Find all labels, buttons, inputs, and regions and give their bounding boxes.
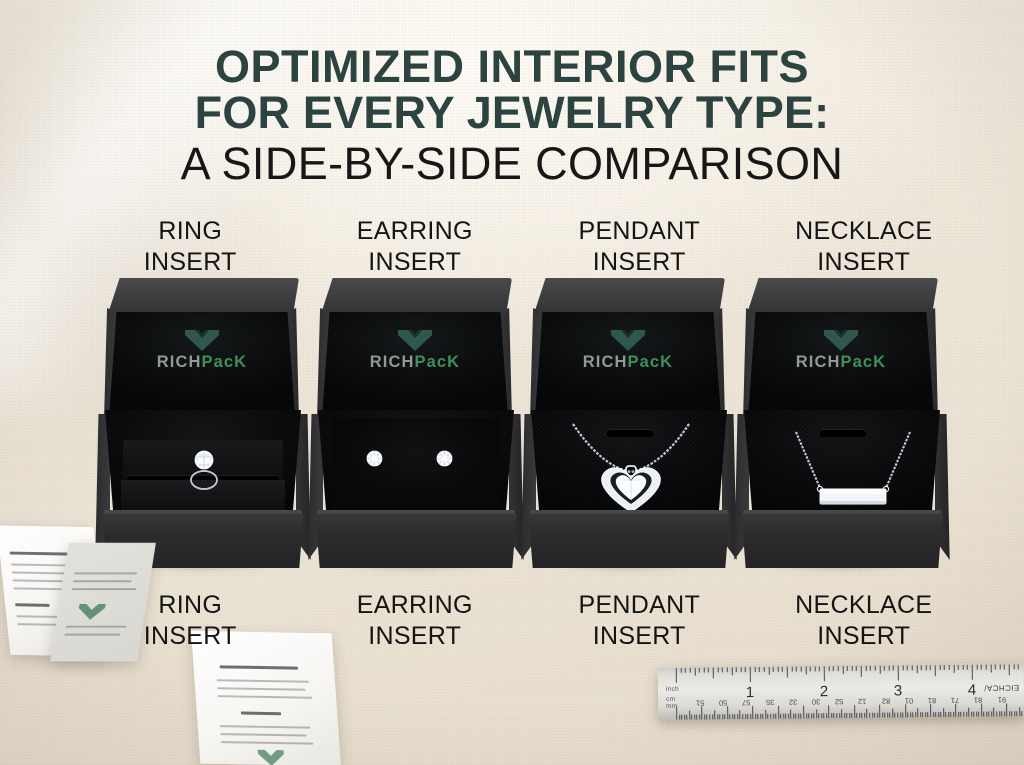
ruler-tick-metric — [940, 712, 941, 717]
ruler-tick-metric — [884, 713, 885, 718]
brochure-right-heading — [220, 665, 298, 669]
ruler-tick — [851, 666, 852, 671]
ruler-tick — [865, 666, 866, 671]
lid-top-slab — [317, 278, 512, 314]
ruler-tick-metric — [717, 714, 718, 719]
richpack-logo: RICHPacK — [533, 330, 723, 372]
product-photo-scene: OPTIMIZED INTERIOR FITS FOR EVERY JEWELR… — [0, 0, 1024, 765]
ruler-tick-metric — [854, 705, 855, 718]
ruler-tick — [879, 666, 880, 674]
ruler-inch-label: 3 — [894, 682, 903, 699]
ruler-tick — [773, 667, 774, 672]
lid-top-slab — [743, 278, 938, 314]
jewelry-box-pendant: RICHPacK — [520, 278, 738, 568]
ruler-tick — [777, 667, 778, 672]
ruler-tick-metric — [737, 714, 738, 719]
ruler-tick-metric — [813, 713, 814, 718]
ruler-tick-metric — [841, 709, 842, 718]
title-line-1: OPTIMIZED INTERIOR FITS — [0, 44, 1024, 90]
bottom-label-pendant-line1: PENDANT — [578, 591, 700, 619]
ruler-tick-metric — [846, 713, 847, 718]
ruler-tick-metric — [824, 713, 825, 718]
ruler-tick — [685, 668, 686, 673]
base-front-wall — [735, 514, 949, 568]
ruler-tick-metric — [770, 714, 771, 719]
ruler-tick-metric — [694, 715, 695, 720]
ruler-tick-metric — [978, 712, 979, 717]
logo-pack-part: PacK — [628, 353, 674, 371]
ruler-tick-metric — [910, 712, 911, 717]
ruler-metric-label: 91 — [997, 695, 1005, 704]
top-label-ring-line2: INSERT — [78, 247, 303, 278]
ruler-tick-metric — [798, 714, 799, 719]
ruler-tick — [745, 667, 746, 672]
ruler-tick-metric — [879, 705, 880, 718]
ruler-tick-metric — [676, 707, 677, 720]
brochure-richpack-logo-icon — [258, 750, 285, 765]
ruler-tick-metric — [757, 714, 758, 719]
ruler-tick-metric — [1001, 711, 1002, 716]
top-label-necklace: NECKLACE INSERT — [752, 216, 977, 277]
ruler-tick-metric — [826, 713, 827, 718]
ruler-tick-metric — [839, 713, 840, 718]
ruler-tick-metric — [806, 713, 807, 718]
top-label-earring-line2: INSERT — [303, 247, 528, 278]
ruler-tick — [805, 666, 806, 674]
logo-pack-part: PacK — [415, 353, 461, 371]
ruler-tick — [713, 667, 714, 678]
ruler-unit-inch: inch — [666, 686, 679, 693]
ruler-tick-metric — [755, 714, 756, 719]
diamond-gem-icon — [824, 330, 858, 351]
base-front-wall — [309, 514, 523, 568]
box-lid-earring: RICHPacK — [317, 278, 512, 418]
ruler-tick — [801, 666, 802, 671]
ruler-tick — [810, 666, 811, 671]
ruler-tick-metric — [719, 714, 720, 719]
ruler-tick-metric — [867, 709, 868, 718]
ruler-tick — [935, 665, 936, 676]
ruler-tick-metric — [788, 714, 789, 719]
ruler-tick-metric — [986, 712, 987, 717]
ruler-tick — [690, 668, 691, 673]
ruler-tick-metric — [780, 714, 781, 719]
top-label-ring-line1: RING — [158, 217, 222, 245]
ruler-tick-metric — [981, 704, 982, 717]
ruler-tick — [958, 665, 959, 670]
ruler-tick — [898, 665, 899, 680]
ruler-tick — [884, 666, 885, 671]
ruler-tick-metric — [745, 714, 746, 719]
brochure-richpack-logo-icon — [77, 604, 106, 620]
ruler-metric-label: 30 — [812, 697, 820, 706]
ruler-tick — [856, 666, 857, 671]
ruler-tick-metric — [994, 707, 995, 716]
ruler-tick — [731, 667, 732, 675]
ruler-tick — [833, 666, 834, 671]
ruler-tick-metric — [895, 713, 896, 718]
ruler-tick — [888, 666, 889, 671]
ruler-tick — [995, 664, 996, 669]
solitaire-ring-icon — [183, 446, 225, 490]
ruler-brand-text: EICHCA/ — [984, 683, 1019, 692]
ruler-tick-metric — [681, 715, 682, 720]
ruler-tick-metric — [973, 712, 974, 717]
ruler-tick — [893, 666, 894, 671]
top-label-necklace-line2: INSERT — [752, 247, 977, 278]
ruler-tick-metric — [961, 712, 962, 717]
ruler-tick — [791, 667, 792, 672]
ruler-tick — [1009, 664, 1010, 675]
ruler-tick — [902, 665, 903, 670]
ruler-tick — [981, 665, 982, 670]
ruler-tick-metric — [968, 708, 969, 717]
ruler-tick-metric — [928, 712, 929, 717]
ruler-tick-metric — [943, 708, 944, 717]
ruler-tick-metric — [679, 715, 680, 720]
ruler-tick-metric — [991, 712, 992, 717]
ruler-tick-metric — [836, 713, 837, 718]
bottom-label-necklace: NECKLACE INSERT — [752, 590, 977, 651]
ruler-tick — [986, 665, 987, 670]
ruler-metric-label: 81 — [928, 696, 936, 705]
brochure-left-fold — [50, 543, 156, 662]
ruler-tick — [949, 665, 950, 670]
ruler-tick-metric — [976, 712, 977, 717]
ruler-tick-metric — [793, 714, 794, 719]
ruler-tick-metric — [984, 712, 985, 717]
ruler-tick-metric — [935, 712, 936, 717]
ruler-tick — [727, 667, 728, 672]
ruler-tick-metric — [915, 712, 916, 717]
ruler-tick — [953, 665, 954, 673]
ruler-tick-metric — [1022, 711, 1023, 716]
top-label-ring: RING INSERT — [78, 216, 303, 277]
bottom-label-pendant-line2: INSERT — [527, 621, 752, 652]
ruler-tick-metric — [996, 711, 997, 716]
ruler-tick-metric — [1019, 707, 1020, 716]
ruler-tick-metric — [851, 713, 852, 718]
ruler-tick-metric — [686, 715, 687, 720]
ruler-tick — [722, 667, 723, 672]
richpack-logo-text: RICHPacK — [796, 353, 886, 371]
brochure-heading — [10, 552, 73, 556]
logo-pack-part: PacK — [841, 353, 887, 371]
page-title: OPTIMIZED INTERIOR FITS FOR EVERY JEWELR… — [0, 44, 1024, 187]
diamond-gem-icon — [185, 330, 219, 351]
top-label-earring: EARRING INSERT — [303, 216, 528, 277]
box-base-necklace — [733, 410, 951, 568]
ruler-tick-metric — [803, 705, 804, 718]
ruler-tick — [708, 667, 709, 672]
ruler-tick — [764, 667, 765, 672]
ruler-tick — [1018, 664, 1019, 669]
ruler-tick-metric — [907, 712, 908, 717]
ruler-tick — [847, 666, 848, 671]
ruler-tick-metric — [874, 713, 875, 718]
ruler-tick-metric — [1009, 711, 1010, 716]
ruler-tick-metric — [887, 713, 888, 718]
ruler-tick-metric — [938, 712, 939, 717]
ruler-tick-metric — [953, 712, 954, 717]
logo-rich-part: RICH — [796, 353, 841, 371]
ruler-tick — [999, 664, 1000, 669]
ruler-tick-metric — [765, 710, 766, 719]
ruler-tick-metric — [742, 714, 743, 719]
box-lid-ring: RICHPacK — [104, 278, 299, 418]
ruler-tick — [1004, 664, 1005, 669]
ruler-metric-label: 50 — [719, 698, 727, 707]
ruler-tick — [754, 667, 755, 672]
ruler-tick-metric — [966, 712, 967, 717]
ruler-tick — [736, 667, 737, 672]
base-front-wall — [522, 514, 736, 568]
bottom-label-necklace-line2: INSERT — [752, 621, 977, 652]
ruler-tick-metric — [999, 711, 1000, 716]
ruler-tick-metric — [732, 714, 733, 719]
ruler-tick-metric — [714, 710, 715, 719]
ruler-tick-metric — [920, 712, 921, 717]
ruler-metric-label: 12 — [858, 697, 866, 706]
ruler-tick-metric — [834, 713, 835, 718]
box-base-pendant — [520, 410, 738, 568]
bottom-label-pendant: PENDANT INSERT — [527, 590, 752, 651]
ruler-tick-metric — [930, 704, 931, 717]
ruler-tick — [875, 666, 876, 671]
ruler-tick — [842, 666, 843, 674]
ruler-tick-metric — [917, 708, 918, 717]
title-line-2: FOR EVERY JEWELRY TYPE: — [0, 90, 1024, 136]
ruler-tick-metric — [1004, 711, 1005, 716]
ruler-tick — [838, 666, 839, 671]
lid-inner-panel: RICHPacK — [746, 312, 936, 418]
ruler-tick — [759, 667, 760, 672]
ruler: inch cm mm EICHCA/ 123451505735323052128… — [658, 664, 1024, 720]
ruler-tick — [750, 667, 751, 682]
ruler-tick-metric — [735, 714, 736, 719]
ruler-tick-metric — [684, 715, 685, 720]
ruler-tick-metric — [912, 712, 913, 717]
lid-inner-panel: RICHPacK — [107, 312, 297, 418]
ruler-tick-metric — [790, 710, 791, 719]
ruler-tick — [870, 666, 871, 671]
diamond-gem-icon — [611, 330, 645, 351]
ruler-tick-metric — [752, 706, 753, 719]
ruler-tick — [967, 665, 968, 670]
ruler-tick-metric — [740, 710, 741, 719]
ruler-tick — [990, 665, 991, 673]
brochure-right-panel — [191, 631, 341, 765]
ruler-tick — [824, 666, 825, 681]
ruler-tick-metric — [785, 714, 786, 719]
ruler-tick-metric — [778, 706, 779, 719]
ruler-tick-metric — [857, 713, 858, 718]
ruler-tick-metric — [821, 713, 822, 718]
ruler-tick — [694, 668, 695, 676]
richpack-logo-text: RICHPacK — [157, 353, 247, 371]
ruler-tick-metric — [890, 713, 891, 718]
ruler-tick-metric — [816, 709, 817, 718]
ruler-tick-metric — [882, 713, 883, 718]
ruler-tick — [916, 665, 917, 673]
ruler-tick-metric — [689, 711, 690, 720]
ruler-tick-metric — [702, 707, 703, 720]
ruler-tick-metric — [859, 713, 860, 718]
ruler-tick — [717, 667, 718, 672]
lid-inner-panel: RICHPacK — [533, 312, 723, 418]
ruler-tick-metric — [709, 714, 710, 719]
ruler-tick-metric — [707, 714, 708, 719]
ruler-tick-metric — [727, 706, 728, 719]
ruler-tick-metric — [951, 712, 952, 717]
richpack-logo: RICHPacK — [320, 330, 510, 372]
ruler-tick — [787, 667, 788, 678]
ruler-tick — [782, 667, 783, 672]
ruler-tick — [861, 666, 862, 677]
ruler-tick-metric — [691, 715, 692, 720]
ruler-tick — [962, 665, 963, 670]
brochure-group — [0, 520, 340, 765]
ruler-tick-metric — [730, 714, 731, 719]
richpack-logo: RICHPacK — [746, 330, 936, 372]
ruler-tick-metric — [831, 713, 832, 718]
ruler-tick — [930, 665, 931, 670]
earring-insert-pad — [332, 418, 500, 518]
richpack-logo: RICHPacK — [107, 330, 297, 372]
logo-rich-part: RICH — [583, 353, 628, 371]
diamond-gem-icon — [398, 330, 432, 351]
logo-rich-part: RICH — [370, 353, 415, 371]
ruler-tick — [921, 665, 922, 670]
ruler-tick — [972, 665, 973, 680]
ruler-tick — [907, 665, 908, 670]
ruler-tick-metric — [768, 714, 769, 719]
ruler-tick-metric — [808, 713, 809, 718]
top-label-earring-line1: EARRING — [357, 217, 473, 245]
ruler-tick-metric — [869, 713, 870, 718]
ruler-tick — [676, 668, 677, 683]
ruler-tick-metric — [905, 704, 906, 717]
ruler-tick — [912, 665, 913, 670]
ruler-tick-metric — [1011, 711, 1012, 716]
ruler-tick-metric — [783, 714, 784, 719]
ruler-metric-label: 81 — [974, 696, 982, 705]
ruler-tick-metric — [963, 712, 964, 717]
ruler-tick-metric — [923, 712, 924, 717]
ruler-tick-metric — [864, 713, 865, 718]
ruler-tick-metric — [775, 714, 776, 719]
ruler-tick-metric — [763, 714, 764, 719]
ruler-tick-metric — [900, 712, 901, 717]
ruler-tick-metric — [956, 704, 957, 717]
ruler-tick — [814, 666, 815, 671]
ruler-tick-metric — [948, 712, 949, 717]
ruler-metric-label: 51 — [696, 699, 704, 708]
bottom-label-earring-line1: EARRING — [357, 591, 473, 619]
ruler-tick-metric — [862, 713, 863, 718]
ruler-tick-metric — [1014, 711, 1015, 716]
ruler-tick — [939, 665, 940, 670]
ruler-tick-metric — [796, 714, 797, 719]
logo-rich-part: RICH — [157, 353, 202, 371]
top-label-row: RING INSERT EARRING INSERT PENDANT INSER… — [78, 216, 976, 277]
ruler-tick-metric — [925, 712, 926, 717]
jewelry-box-necklace: RICHPacK — [733, 278, 951, 568]
ruler-inch-label: 2 — [820, 683, 829, 700]
ruler-metric-label: 35 — [765, 698, 773, 707]
ruler-metric-label: 01 — [905, 696, 913, 705]
ruler-tick-metric — [844, 713, 845, 718]
top-label-necklace-line1: NECKLACE — [795, 217, 932, 245]
bottom-label-necklace-line1: NECKLACE — [795, 591, 932, 619]
top-label-pendant-line1: PENDANT — [578, 217, 700, 245]
ruler-tick-metric — [892, 709, 893, 718]
ruler-tick — [925, 665, 926, 670]
ruler-tick — [944, 665, 945, 670]
brochure-right-subheading — [241, 712, 281, 716]
ruler-tick-metric — [971, 712, 972, 717]
ruler-tick-metric — [902, 712, 903, 717]
stud-earring-right-icon — [436, 450, 453, 467]
ruler-tick-metric — [897, 712, 898, 717]
lid-top-slab — [104, 278, 299, 314]
ruler-tick — [976, 665, 977, 670]
box-lid-necklace: RICHPacK — [743, 278, 938, 418]
lid-top-slab — [530, 278, 725, 314]
ruler-tick-metric — [811, 713, 812, 718]
ruler-tick — [699, 668, 700, 673]
ruler-tick-metric — [958, 712, 959, 717]
ruler-tick-metric — [697, 715, 698, 720]
ruler-tick-metric — [877, 713, 878, 718]
title-line-3: A SIDE-BY-SIDE COMPARISON — [0, 141, 1024, 187]
ruler-tick — [796, 667, 797, 672]
ruler-tick — [828, 666, 829, 671]
ruler-tick — [703, 668, 704, 673]
ruler-metric-label: 71 — [951, 696, 959, 705]
richpack-logo-text: RICHPacK — [370, 353, 460, 371]
ruler-tick-metric — [818, 713, 819, 718]
brochure-subheading — [15, 603, 50, 607]
ruler-tick-metric — [829, 705, 830, 718]
ruler-tick-metric — [945, 712, 946, 717]
ruler-tick-metric — [801, 713, 802, 718]
ruler-tick-metric — [724, 714, 725, 719]
ruler-metric-label: 57 — [742, 698, 750, 707]
ruler-tick-metric — [773, 714, 774, 719]
top-label-pendant-line2: INSERT — [527, 247, 752, 278]
ruler-tick-metric — [750, 714, 751, 719]
ruler-tick-metric — [722, 714, 723, 719]
ruler-tick — [819, 666, 820, 671]
ruler-tick-metric — [1006, 703, 1007, 716]
ruler-tick — [740, 667, 741, 672]
ruler-tick-metric — [872, 713, 873, 718]
ruler-tick-metric — [933, 712, 934, 717]
lid-inner-panel: RICHPacK — [320, 312, 510, 418]
ruler-metric-label: 32 — [789, 698, 797, 707]
ruler-tick-metric — [712, 714, 713, 719]
ruler-tick-metric — [760, 714, 761, 719]
richpack-logo-text: RICHPacK — [583, 353, 673, 371]
ruler-tick — [680, 668, 681, 673]
ruler-tick — [1013, 664, 1014, 669]
top-label-pendant: PENDANT INSERT — [527, 216, 752, 277]
ruler-metric-label: 82 — [881, 697, 889, 706]
ruler-tick-metric — [1017, 711, 1018, 716]
ruler-tick-metric — [747, 714, 748, 719]
box-lid-pendant: RICHPacK — [530, 278, 725, 418]
